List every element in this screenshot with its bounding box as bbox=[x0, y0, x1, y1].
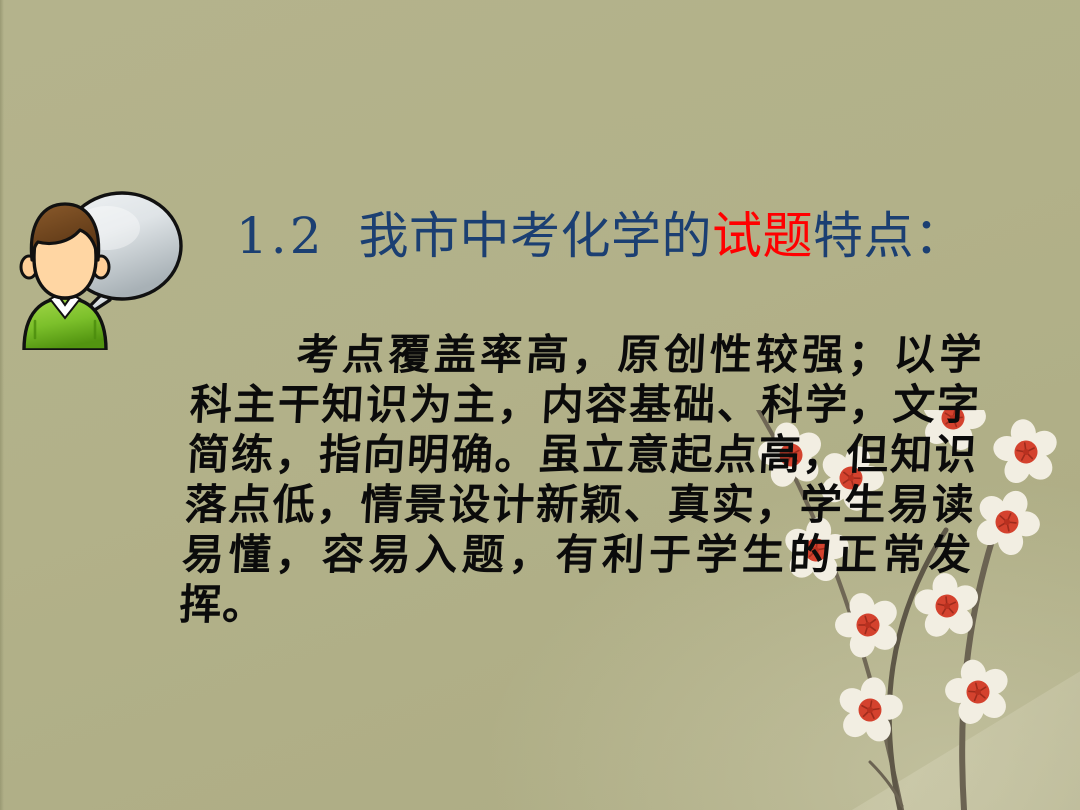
body-paragraph: 考点覆盖率高，原创性较强；以学科主干知识为主，内容基础、科学，文字简练，指向明确… bbox=[178, 330, 984, 630]
title-number: 1.2 bbox=[236, 207, 325, 265]
user-with-speech-bubble-icon bbox=[12, 172, 192, 350]
slide-title: 1.2我市中考化学的试题特点： bbox=[236, 208, 965, 266]
presentation-slide: 1.2我市中考化学的试题特点： 考点覆盖率高，原创性较强；以学科主干知识为主，内… bbox=[0, 0, 1080, 810]
title-highlight: 试题 bbox=[712, 207, 813, 265]
slide-left-edge bbox=[0, 0, 4, 810]
title-lead: 我市中考化学的 bbox=[359, 207, 713, 265]
title-tail: 特点： bbox=[813, 207, 965, 265]
